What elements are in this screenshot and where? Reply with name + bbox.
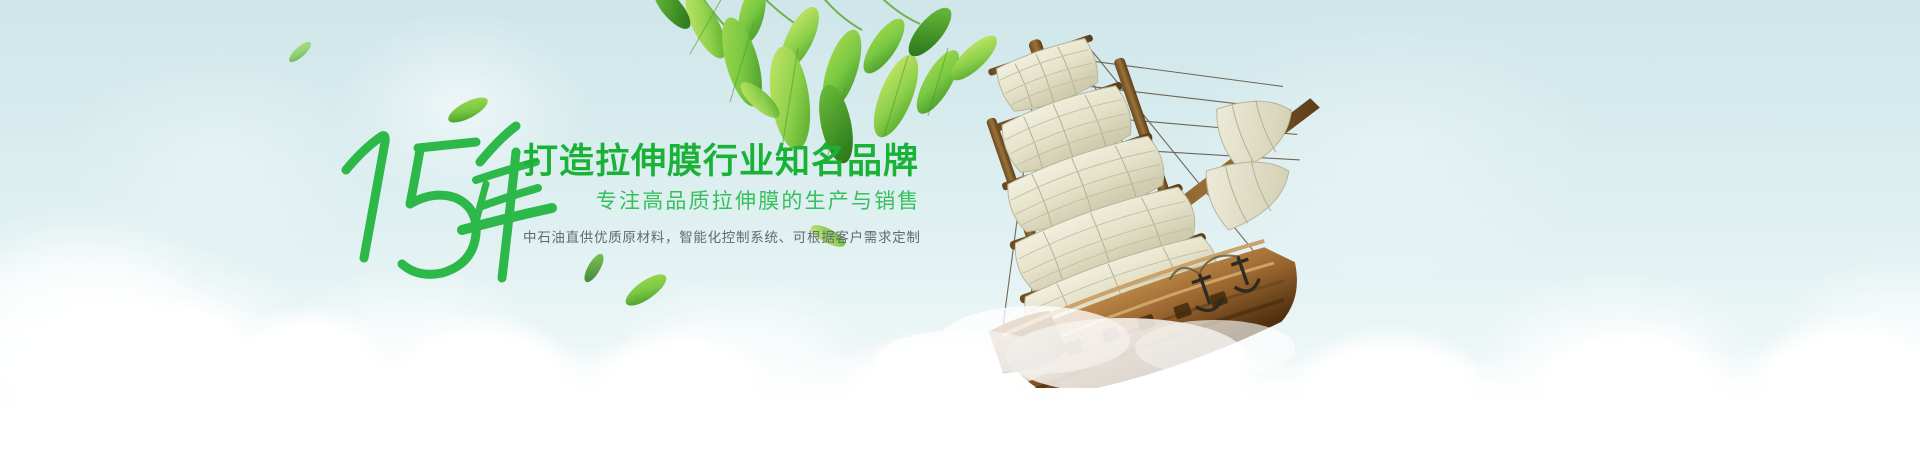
cloud-icon bbox=[0, 235, 180, 345]
banner-text-block: 打造拉伸膜行业知名品牌 专注高品质拉伸膜的生产与销售 中石油直供优质原材料，智能… bbox=[330, 118, 910, 293]
banner-copy: 打造拉伸膜行业知名品牌 专注高品质拉伸膜的生产与销售 中石油直供优质原材料，智能… bbox=[523, 142, 923, 247]
banner-subline: 专注高品质拉伸膜的生产与销售 bbox=[523, 189, 923, 215]
sailing-ship-icon bbox=[845, 0, 1465, 388]
hero-banner: 打造拉伸膜行业知名品牌 专注高品质拉伸膜的生产与销售 中石油直供优质原材料，智能… bbox=[0, 0, 1920, 475]
banner-detail: 中石油直供优质原材料，智能化控制系统、可根据客户需求定制 bbox=[523, 229, 923, 247]
banner-headline: 打造拉伸膜行业知名品牌 bbox=[523, 142, 923, 182]
